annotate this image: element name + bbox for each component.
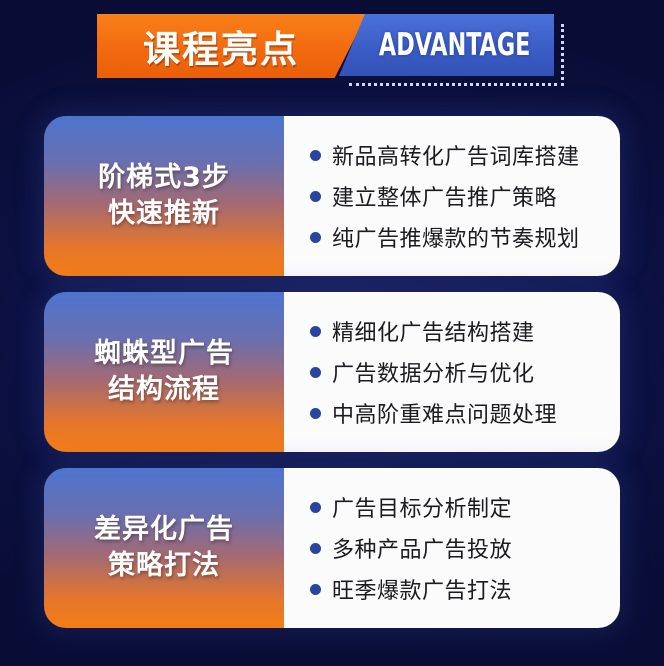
list-item: 旺季爆款广告打法	[310, 573, 608, 605]
bullet-dot-icon	[310, 584, 321, 595]
bullet-label: 多种产品广告投放	[332, 532, 512, 564]
list-item: 中高阶重难点问题处理	[310, 397, 608, 429]
card-title-line2: 结构流程	[108, 375, 220, 405]
header-banner: 课程亮点 ADVANTAGE	[0, 12, 664, 90]
bullet-dot-icon	[310, 367, 321, 378]
list-item: 精细化广告结构搭建	[310, 315, 608, 347]
advantage-card-list: 阶梯式3步 快速推新 新品高转化广告词库搭建 建立整体广告推广策略 纯广告推爆款…	[0, 116, 664, 644]
bullet-label: 广告数据分析与优化	[332, 356, 535, 388]
bullet-dot-icon	[310, 326, 321, 337]
card-title-line2: 策略打法	[108, 551, 220, 581]
list-item: 新品高转化广告词库搭建	[310, 139, 608, 171]
card-title-line1: 蜘蛛型广告	[94, 339, 234, 369]
list-item: 建立整体广告推广策略	[310, 180, 608, 212]
bullet-dot-icon	[310, 543, 321, 554]
list-item: 纯广告推爆款的节奏规划	[310, 221, 608, 253]
header-inner: 课程亮点 ADVANTAGE	[97, 12, 567, 90]
bullet-dot-icon	[310, 408, 321, 419]
bullet-label: 建立整体广告推广策略	[332, 180, 557, 212]
card-title-panel: 蜘蛛型广告 结构流程	[44, 292, 284, 452]
card-title-line2: 快速推新	[108, 199, 220, 229]
header-title-en-banner: ADVANTAGE	[339, 14, 554, 76]
card-title-line1: 差异化广告	[94, 515, 234, 545]
advantage-card[interactable]: 差异化广告 策略打法 广告目标分析制定 多种产品广告投放 旺季爆款广告打法	[44, 468, 620, 628]
list-item: 广告目标分析制定	[310, 491, 608, 523]
bullet-label: 新品高转化广告词库搭建	[332, 139, 580, 171]
bullet-label: 精细化广告结构搭建	[332, 315, 535, 347]
advantage-card[interactable]: 蜘蛛型广告 结构流程 精细化广告结构搭建 广告数据分析与优化 中高阶重难点问题处…	[44, 292, 620, 452]
advantage-card[interactable]: 阶梯式3步 快速推新 新品高转化广告词库搭建 建立整体广告推广策略 纯广告推爆款…	[44, 116, 620, 276]
bullet-label: 纯广告推爆款的节奏规划	[332, 221, 580, 253]
course-advantage-poster: 课程亮点 ADVANTAGE 阶梯式3步 快速推新 新品高转化广告词库搭建 建	[0, 0, 664, 666]
bullet-dot-icon	[310, 191, 321, 202]
list-item: 广告数据分析与优化	[310, 356, 608, 388]
card-bullet-panel: 精细化广告结构搭建 广告数据分析与优化 中高阶重难点问题处理	[284, 292, 620, 452]
card-title-line1: 阶梯式3步	[98, 163, 230, 193]
bullet-dot-icon	[310, 502, 321, 513]
list-item: 多种产品广告投放	[310, 532, 608, 564]
bullet-label: 中高阶重难点问题处理	[332, 397, 557, 429]
card-title-panel: 阶梯式3步 快速推新	[44, 116, 284, 276]
header-title-cn-banner: 课程亮点	[97, 14, 367, 78]
card-bullet-panel: 新品高转化广告词库搭建 建立整体广告推广策略 纯广告推爆款的节奏规划	[284, 116, 620, 276]
header-title-cn: 课程亮点	[143, 19, 321, 73]
card-title-panel: 差异化广告 策略打法	[44, 468, 284, 628]
bullet-label: 旺季爆款广告打法	[332, 573, 512, 605]
card-bullet-panel: 广告目标分析制定 多种产品广告投放 旺季爆款广告打法	[284, 468, 620, 628]
bullet-dot-icon	[310, 150, 321, 161]
header-title-en: ADVANTAGE	[363, 27, 530, 63]
bullet-dot-icon	[310, 232, 321, 243]
bullet-label: 广告目标分析制定	[332, 491, 512, 523]
